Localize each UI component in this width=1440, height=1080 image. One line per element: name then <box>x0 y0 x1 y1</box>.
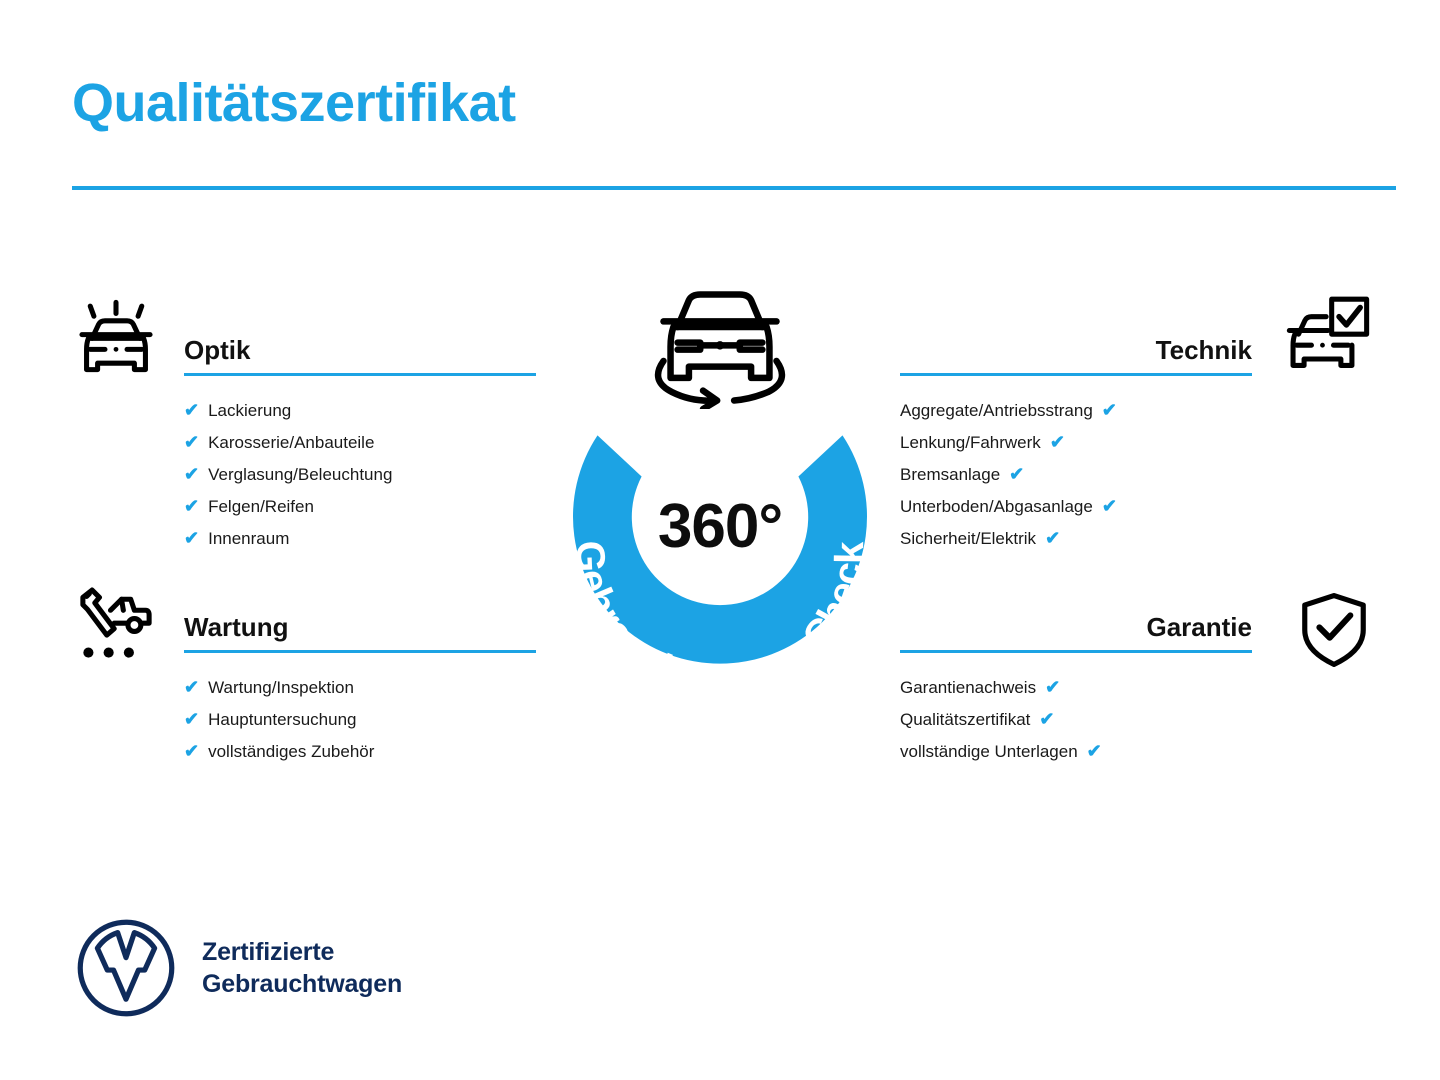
check-icon: ✔ <box>1050 433 1065 451</box>
list-item-label: Wartung/Inspektion <box>208 679 354 696</box>
section-title-technik: Technik <box>900 336 1252 366</box>
check-icon: ✔ <box>184 497 199 515</box>
wrench-car-service-icon <box>66 575 166 675</box>
section-optik: Optik ✔Lackierung ✔Karosserie/Anbauteile… <box>184 336 536 554</box>
page-title: Qualitätszertifikat <box>72 74 516 133</box>
list-item: ✔vollständiges Zubehör <box>184 735 536 767</box>
section-title-wartung: Wartung <box>184 613 536 643</box>
list-item-label: Unterboden/Abgasanlage <box>900 498 1093 515</box>
check-icon: ✔ <box>1039 710 1054 728</box>
shield-check-icon-svg <box>1291 587 1377 673</box>
list-item: ✔Hauptuntersuchung <box>184 703 536 735</box>
list-item-label: Garantienachweis <box>900 679 1036 696</box>
check-icon: ✔ <box>184 529 199 547</box>
section-wartung: Wartung ✔Wartung/Inspektion ✔Hauptunters… <box>184 613 536 767</box>
check-icon: ✔ <box>1009 465 1024 483</box>
list-item: ✔Wartung/Inspektion <box>184 671 536 703</box>
section-divider-technik <box>900 373 1252 376</box>
car-rotation-icon <box>634 279 806 409</box>
list-item: ✔Unterboden/Abgasanlage <box>900 490 1252 522</box>
list-item-label: Qualitätszertifikat <box>900 711 1030 728</box>
checklist-wartung: ✔Wartung/Inspektion ✔Hauptuntersuchung ✔… <box>184 671 536 767</box>
list-item: ✔Qualitätszertifikat <box>900 703 1252 735</box>
section-divider-optik <box>184 373 536 376</box>
list-item: ✔Karosserie/Anbauteile <box>184 426 536 458</box>
list-item: ✔Innenraum <box>184 522 536 554</box>
volkswagen-logo <box>74 916 178 1020</box>
list-item: ✔vollständige Unterlagen <box>900 735 1252 767</box>
wrench-car-service-icon-svg <box>70 579 162 671</box>
list-item-label: vollständiges Zubehör <box>208 743 374 760</box>
check-icon: ✔ <box>184 465 199 483</box>
section-divider-garantie <box>900 650 1252 653</box>
car-front-lights-icon-svg <box>70 296 162 388</box>
section-title-optik: Optik <box>184 336 536 366</box>
list-item: ✔Lenkung/Fahrwerk <box>900 426 1252 458</box>
section-garantie: Garantie ✔Garantienachweis ✔Qualitätszer… <box>900 613 1252 767</box>
check-icon: ✔ <box>1087 742 1102 760</box>
list-item: ✔Lackierung <box>184 394 536 426</box>
check-icon: ✔ <box>1102 497 1117 515</box>
list-item-label: Karosserie/Anbauteile <box>208 434 374 451</box>
brand-text: Zertifizierte Gebrauchtwagen <box>202 936 402 1000</box>
check-icon: ✔ <box>184 433 199 451</box>
list-item: ✔Sicherheit/Elektrik <box>900 522 1252 554</box>
brand-lockup: Zertifizierte Gebrauchtwagen <box>74 916 402 1020</box>
check-icon: ✔ <box>1102 401 1117 419</box>
gebrauchtwagen-check-badge: Gebrauchtwagen-Check 360° <box>524 355 916 747</box>
brand-line-1: Zertifizierte <box>202 936 402 968</box>
section-technik: Technik ✔Aggregate/Antriebsstrang ✔Lenku… <box>900 336 1252 554</box>
brand-line-2: Gebrauchtwagen <box>202 968 402 1000</box>
car-front-lights-icon <box>66 292 166 392</box>
list-item-label: Lenkung/Fahrwerk <box>900 434 1041 451</box>
badge-center-label: 360° <box>524 491 916 562</box>
checklist-garantie: ✔Garantienachweis ✔Qualitätszertifikat ✔… <box>900 671 1252 767</box>
list-item-label: Innenraum <box>208 530 289 547</box>
list-item-label: vollständige Unterlagen <box>900 743 1078 760</box>
checklist-technik: ✔Aggregate/Antriebsstrang ✔Lenkung/Fahrw… <box>900 394 1252 554</box>
car-front-checkbox-icon <box>1278 286 1378 386</box>
list-item-label: Hauptuntersuchung <box>208 711 356 728</box>
list-item: ✔Verglasung/Beleuchtung <box>184 458 536 490</box>
header-divider <box>72 186 1396 190</box>
list-item: ✔Felgen/Reifen <box>184 490 536 522</box>
list-item-label: Verglasung/Beleuchtung <box>208 466 392 483</box>
shield-check-icon <box>1284 580 1384 680</box>
check-icon: ✔ <box>184 678 199 696</box>
check-icon: ✔ <box>184 742 199 760</box>
check-icon: ✔ <box>184 401 199 419</box>
list-item-label: Felgen/Reifen <box>208 498 314 515</box>
list-item: ✔Aggregate/Antriebsstrang <box>900 394 1252 426</box>
list-item: ✔Bremsanlage <box>900 458 1252 490</box>
list-item-label: Aggregate/Antriebsstrang <box>900 402 1093 419</box>
list-item-label: Sicherheit/Elektrik <box>900 530 1036 547</box>
section-divider-wartung <box>184 650 536 653</box>
list-item-label: Lackierung <box>208 402 291 419</box>
check-icon: ✔ <box>1045 678 1060 696</box>
check-icon: ✔ <box>1045 529 1060 547</box>
car-front-checkbox-icon-svg <box>1282 290 1374 382</box>
checklist-optik: ✔Lackierung ✔Karosserie/Anbauteile ✔Verg… <box>184 394 536 554</box>
section-title-garantie: Garantie <box>900 613 1252 643</box>
list-item: ✔Garantienachweis <box>900 671 1252 703</box>
check-icon: ✔ <box>184 710 199 728</box>
